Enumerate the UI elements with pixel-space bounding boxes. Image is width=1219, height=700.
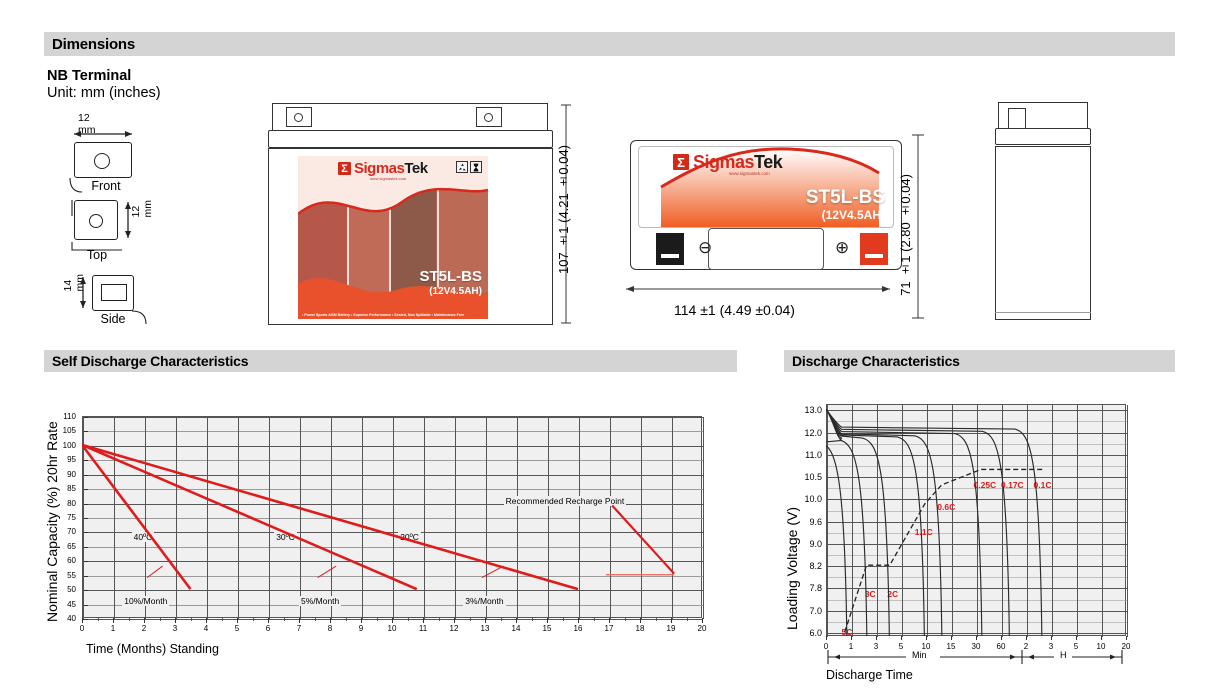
self-chart-annotation: 20ºC — [398, 532, 421, 542]
self-x-minor-tick — [191, 618, 192, 621]
self-gridline-v — [703, 417, 704, 619]
self-x-tick: 9 — [351, 624, 371, 633]
discharge-y-tick: 6.0 — [786, 628, 822, 638]
self-x-tick: 13 — [475, 624, 495, 633]
label-model: ST5L-BS — [419, 268, 482, 285]
top-view-label: Top — [72, 248, 122, 262]
self-chart-annotation: 3%/Month — [463, 596, 505, 606]
top-terminal-hole — [89, 214, 103, 228]
self-gridline-v — [455, 417, 456, 619]
self-x-tickmark — [299, 618, 300, 623]
discharge-chart: Loading Voltage (V) 6.07.07.88.29.09.610… — [784, 390, 1184, 680]
self-y-tick: 65 — [44, 542, 76, 551]
side-case-bottom-line — [995, 312, 1091, 313]
self-chart-annotation: 5%/Month — [299, 596, 341, 606]
self-discharge-chart: Nominal Capacity (%) 20hr Rate 404550556… — [44, 390, 744, 670]
self-y-tick: 45 — [44, 600, 76, 609]
self-chart-annotation: 10%/Month — [122, 596, 169, 606]
side-terminal-notch — [1008, 108, 1026, 130]
self-x-tick: 17 — [599, 624, 619, 633]
self-x-minor-tick — [501, 618, 502, 621]
self-gridline-v — [114, 417, 115, 619]
self-x-tickmark — [671, 618, 672, 623]
self-y-tick: 90 — [44, 470, 76, 479]
self-x-minor-tick — [656, 618, 657, 621]
self-x-tickmark — [485, 618, 486, 623]
discharge-unit-hour: H — [1060, 650, 1067, 660]
battery-front-view: Σ SigmasTek www.sigmastek.com ST5L-BS (1… — [268, 103, 553, 325]
front-terminal-left-hole — [294, 113, 303, 122]
side-lid — [995, 128, 1091, 145]
self-gridline-v — [610, 417, 611, 619]
unit-label: Unit: mm (inches) — [47, 85, 161, 101]
self-x-minor-tick — [687, 618, 688, 621]
side-terminal-slot — [101, 284, 127, 301]
discharge-rate-label: 5C — [842, 627, 853, 637]
self-gridline-v — [300, 417, 301, 619]
discharge-gridline-v — [902, 405, 903, 637]
self-x-tickmark — [454, 618, 455, 623]
self-gridline-v — [362, 417, 363, 619]
discharge-gridline-v — [827, 405, 828, 637]
self-x-tick: 6 — [258, 624, 278, 633]
label-icon-group — [456, 161, 482, 173]
discharge-x-tickmark — [876, 636, 877, 640]
self-chart-annotation: 40ºC — [132, 532, 155, 542]
self-x-minor-tick — [346, 618, 347, 621]
discharge-gridline-v — [952, 405, 953, 637]
discharge-gridline-v — [1102, 405, 1103, 637]
self-y-tick: 60 — [44, 556, 76, 565]
positive-terminal-block — [860, 233, 888, 265]
self-gridline-v — [207, 417, 208, 619]
self-y-tickmark — [83, 619, 88, 620]
top-brand-part2: Tek — [754, 152, 782, 172]
discharge-time-scale-bracket — [826, 648, 1126, 670]
discharge-x-tickmark — [826, 636, 827, 640]
self-gridline-v — [424, 417, 425, 619]
discharge-gridline-v — [1027, 405, 1028, 637]
front-dim-arrow — [70, 127, 150, 143]
self-y-tick: 100 — [44, 441, 76, 450]
self-gridline-v — [176, 417, 177, 619]
nb-terminal-title: NB Terminal — [47, 68, 131, 84]
self-x-tick: 4 — [196, 624, 216, 633]
self-x-tickmark — [516, 618, 517, 623]
self-gridline-v — [145, 417, 146, 619]
discharge-gridline-v — [877, 405, 878, 637]
discharge-y-tick: 10.0 — [786, 494, 822, 504]
top-terminal-bay — [708, 228, 824, 270]
brand-name: SigmasTek — [354, 160, 428, 177]
self-x-tick: 19 — [661, 624, 681, 633]
self-gridline-v — [672, 417, 673, 619]
section-header-dimensions: Dimensions — [44, 32, 1175, 56]
self-x-tick: 2 — [134, 624, 154, 633]
discharge-y-tick: 10.5 — [786, 472, 822, 482]
front-label: Σ SigmasTek www.sigmastek.com ST5L-BS (1… — [298, 156, 488, 319]
self-x-tickmark — [268, 618, 269, 623]
self-x-tick: 18 — [630, 624, 650, 633]
discharge-x-tickmark — [1101, 636, 1102, 640]
self-x-tickmark — [206, 618, 207, 623]
self-x-minor-tick — [563, 618, 564, 621]
discharge-rate-label: 0.1C — [1034, 480, 1052, 490]
self-x-minor-tick — [408, 618, 409, 621]
discharge-x-tickmark — [951, 636, 952, 640]
self-gridline-v — [393, 417, 394, 619]
discharge-gridline-v — [1052, 405, 1053, 637]
self-x-tickmark — [144, 618, 145, 623]
self-gridline-v — [579, 417, 580, 619]
label-tagline: • Power Sports AGM Battery • Superior Pe… — [302, 313, 464, 317]
self-x-tick: 15 — [537, 624, 557, 633]
self-x-minor-tick — [129, 618, 130, 621]
front-terminal-right-hole — [484, 113, 493, 122]
self-x-tickmark — [702, 618, 703, 623]
recycle-icon — [456, 161, 468, 173]
discharge-gridline-v — [1127, 405, 1128, 637]
discharge-gridline-v — [852, 405, 853, 637]
self-x-minor-tick — [160, 618, 161, 621]
self-gridline-v — [486, 417, 487, 619]
self-x-tick: 16 — [568, 624, 588, 633]
self-x-tickmark — [423, 618, 424, 623]
self-x-minor-tick — [253, 618, 254, 621]
negative-sign-icon: ⊖ — [698, 239, 712, 256]
self-gridline-v — [238, 417, 239, 619]
discharge-unit-min: Min — [912, 650, 927, 660]
top-label-model: ST5L-BS — [806, 187, 885, 209]
discharge-rate-label: 3C — [865, 589, 876, 599]
self-y-tick: 50 — [44, 585, 76, 594]
self-gridline-v — [641, 417, 642, 619]
brand-sigma-mark: Σ — [338, 162, 351, 175]
front-terminal-hole — [94, 153, 110, 169]
self-x-tick: 0 — [72, 624, 92, 633]
front-lid — [268, 130, 553, 148]
negative-terminal-block — [656, 233, 684, 265]
self-x-tickmark — [640, 618, 641, 623]
self-gridline-v — [83, 417, 84, 619]
self-x-minor-tick — [315, 618, 316, 621]
self-x-minor-tick — [377, 618, 378, 621]
self-x-minor-tick — [625, 618, 626, 621]
self-chart-x-axis-title: Time (Months) Standing — [86, 642, 219, 656]
discharge-y-tick: 9.0 — [786, 539, 822, 549]
self-x-tick: 3 — [165, 624, 185, 633]
front-height-dim-label: 107 ±1 (4.21 ±0.04) — [556, 145, 571, 274]
self-x-tick: 20 — [692, 624, 712, 633]
self-x-minor-tick — [284, 618, 285, 621]
front-view-label: Front — [78, 179, 134, 193]
brand-url: www.sigmastek.com — [370, 176, 406, 181]
self-x-tickmark — [330, 618, 331, 623]
section-header-discharge: Discharge Characteristics — [784, 350, 1175, 372]
discharge-chart-x-axis-title: Discharge Time — [826, 668, 913, 682]
top-label: Σ SigmasTek www.sigmastek.com ST5L-BS (1… — [638, 146, 894, 228]
positive-sign-icon: ⊕ — [835, 239, 849, 256]
top-label-spec: (12V4.5AH) — [822, 208, 885, 222]
front-top-strip — [272, 103, 548, 133]
discharge-y-tick: 9.6 — [786, 517, 822, 527]
discharge-rate-label: 2C — [887, 589, 898, 599]
discharge-x-tickmark — [901, 636, 902, 640]
self-x-tick: 14 — [506, 624, 526, 633]
self-x-tick: 5 — [227, 624, 247, 633]
self-x-minor-tick — [470, 618, 471, 621]
discharge-x-tickmark — [926, 636, 927, 640]
discharge-gridline-v — [977, 405, 978, 637]
self-y-tick: 95 — [44, 455, 76, 464]
discharge-rate-label: 1.1C — [915, 527, 933, 537]
battery-side-view: 71 ±1 (2.80 ±0.04) — [900, 100, 1180, 325]
discharge-rate-label: 0.17C — [1001, 480, 1024, 490]
discharge-x-tickmark — [976, 636, 977, 640]
self-gridline-v — [269, 417, 270, 619]
top-brand-name: SigmasTek — [693, 152, 782, 173]
self-gridline-v — [548, 417, 549, 619]
self-chart-annotation: 30ºC — [274, 532, 297, 542]
brand-name-part2: Tek — [404, 160, 427, 177]
top-brand-url: www.sigmastek.com — [729, 171, 770, 176]
discharge-rate-label: 0.6C — [937, 502, 955, 512]
self-x-tickmark — [578, 618, 579, 623]
self-y-tick: 110 — [44, 412, 76, 421]
self-gridline-v — [517, 417, 518, 619]
label-spec: (12V4.5AH) — [429, 286, 482, 297]
discharge-chart-plot-area — [826, 404, 1126, 636]
discharge-gridline-v — [1077, 405, 1078, 637]
self-x-minor-tick — [532, 618, 533, 621]
self-x-tickmark — [392, 618, 393, 623]
self-y-tick: 70 — [44, 527, 76, 536]
discharge-x-tickmark — [1051, 636, 1052, 640]
top-leader-line — [66, 194, 122, 216]
positive-terminal-stripe — [865, 254, 883, 258]
discharge-y-tick: 7.8 — [786, 583, 822, 593]
section-header-self-discharge: Self Discharge Characteristics — [44, 350, 737, 372]
discharge-x-tickmark — [1076, 636, 1077, 640]
self-x-tick: 12 — [444, 624, 464, 633]
self-x-tickmark — [609, 618, 610, 623]
top-width-dim-label: 114 ±1 (4.49 ±0.04) — [674, 302, 795, 318]
discharge-gridline-v — [1002, 405, 1003, 637]
self-chart-annotation: Recommended Recharge Point — [504, 496, 627, 506]
self-y-tick: 55 — [44, 571, 76, 580]
self-x-tickmark — [547, 618, 548, 623]
self-y-tick: 85 — [44, 484, 76, 493]
negative-terminal-stripe — [661, 254, 679, 258]
discharge-chart-y-axis-title: Loading Voltage (V) — [784, 440, 800, 630]
self-x-tickmark — [82, 618, 83, 623]
discharge-x-tickmark — [1126, 636, 1127, 640]
self-x-minor-tick — [439, 618, 440, 621]
discharge-x-tickmark — [1026, 636, 1027, 640]
self-x-tick: 10 — [382, 624, 402, 633]
self-chart-plot-area — [82, 416, 702, 618]
self-y-tick: 40 — [44, 614, 76, 623]
top-brand-part1: Sigmas — [693, 152, 754, 172]
battery-top-view: Σ SigmasTek www.sigmastek.com ST5L-BS (1… — [630, 140, 920, 305]
self-x-tickmark — [237, 618, 238, 623]
self-y-tick: 105 — [44, 426, 76, 435]
side-dim-arrow — [76, 274, 90, 312]
top-brand-sigma-mark: Σ — [673, 154, 689, 170]
self-x-minor-tick — [98, 618, 99, 621]
self-x-minor-tick — [222, 618, 223, 621]
self-x-tick: 7 — [289, 624, 309, 633]
brand-name-part1: Sigmas — [354, 160, 404, 177]
self-x-tickmark — [361, 618, 362, 623]
top-dim-label: 12 mm — [130, 200, 154, 217]
self-x-tick: 8 — [320, 624, 340, 633]
self-x-tickmark — [175, 618, 176, 623]
discharge-y-tick: 12.0 — [786, 428, 822, 438]
self-x-tick: 11 — [413, 624, 433, 633]
discharge-gridline-v — [927, 405, 928, 637]
self-y-tick: 75 — [44, 513, 76, 522]
self-x-minor-tick — [594, 618, 595, 621]
discharge-y-tick: 7.0 — [786, 606, 822, 616]
self-gridline-v — [331, 417, 332, 619]
self-x-tick: 1 — [103, 624, 123, 633]
discharge-y-tick: 13.0 — [786, 405, 822, 415]
discharge-y-tick: 8.2 — [786, 561, 822, 571]
self-gridline-h — [83, 619, 703, 620]
discharge-rate-label: 0.25C — [974, 480, 997, 490]
side-depth-dim-label: 71 ±1 (2.80 ±0.04) — [898, 174, 913, 296]
self-x-tickmark — [113, 618, 114, 623]
top-width-dim-line — [622, 280, 894, 298]
side-view-label: Side — [86, 312, 140, 326]
discharge-y-tick: 11.0 — [786, 450, 822, 460]
self-y-tick: 80 — [44, 499, 76, 508]
hourglass-icon — [470, 161, 482, 173]
discharge-x-tickmark — [1001, 636, 1002, 640]
side-case — [995, 146, 1091, 320]
